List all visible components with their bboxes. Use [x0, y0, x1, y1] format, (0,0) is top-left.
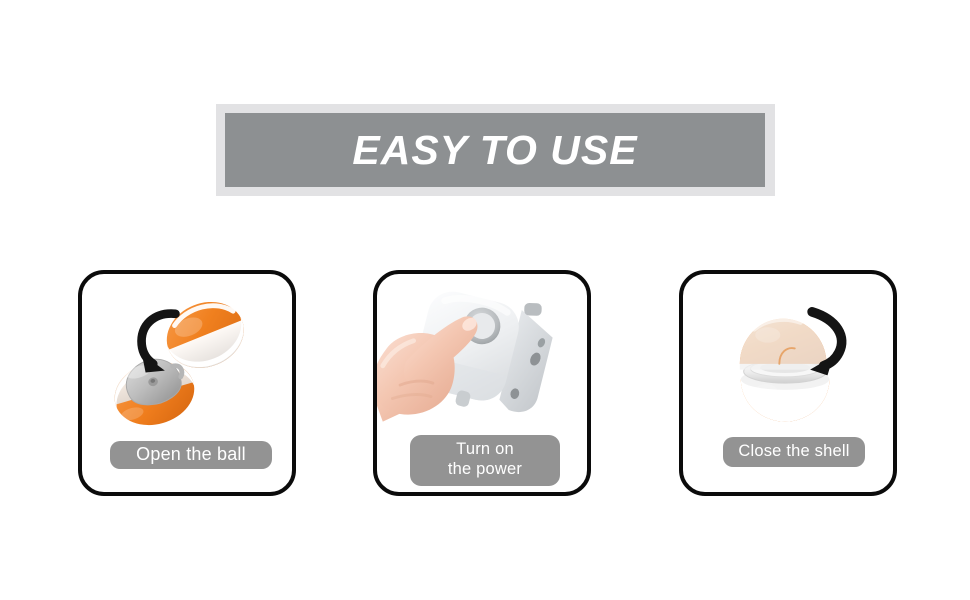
header-banner-fill: EASY TO USE — [225, 113, 765, 187]
step-panel-open-the-ball[interactable]: Open the ball — [78, 270, 296, 496]
illustration-hand-pressing-power-button — [377, 274, 587, 446]
page-title: EASY TO USE — [352, 130, 637, 171]
step-caption: Turn on the power — [410, 435, 560, 486]
step-caption: Close the shell — [723, 437, 865, 467]
illustration-ball-halves-closing — [683, 274, 893, 446]
easy-to-use-infographic: EASY TO USE — [0, 0, 970, 600]
step-panel-close-the-shell[interactable]: Close the shell — [679, 270, 897, 496]
header-banner: EASY TO USE — [216, 104, 775, 196]
illustration-ball-split-open — [82, 274, 292, 446]
step-panel-turn-on-the-power[interactable]: Turn on the power — [373, 270, 591, 496]
step-caption: Open the ball — [110, 441, 272, 469]
